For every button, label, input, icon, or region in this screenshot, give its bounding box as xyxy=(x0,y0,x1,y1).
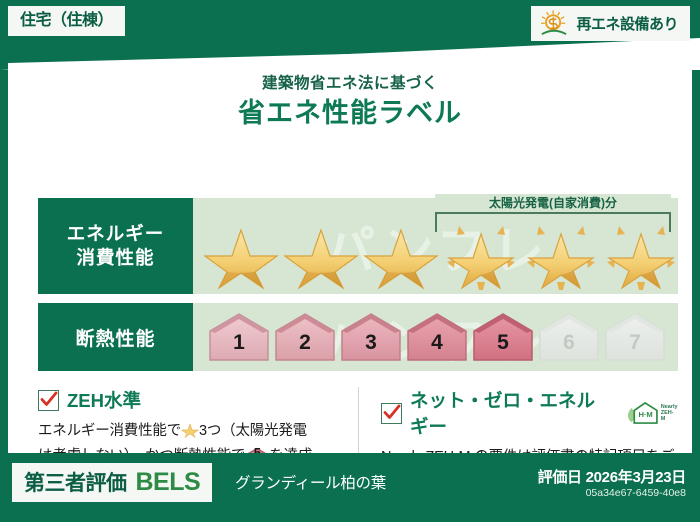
bels-logo-text: BELS xyxy=(136,468,201,497)
sun-energy-icon xyxy=(539,10,569,36)
footer-bar: 第三者評価 BELS グランディール柏の葉 評価日 2026年3月23日 05a… xyxy=(0,453,700,522)
star-icon xyxy=(363,218,439,290)
insulation-level-badge-inactive: 6 xyxy=(537,311,601,363)
net-zero-title: ネット・ゼロ・エネルギー xyxy=(410,387,613,439)
energy-performance-label: 住宅（住棟） 再エネ設備あり 建築物省 xyxy=(0,0,700,522)
property-name: グランディール柏の葉 xyxy=(235,471,386,493)
insulation-level-scale: 1 2 3 xyxy=(207,311,667,363)
insulation-label: 断熱性能 xyxy=(75,324,155,351)
building-type-label: 住宅（住棟） xyxy=(20,12,113,29)
evaluation-date: 評価日 2026年3月23日 xyxy=(538,466,686,487)
star-icon-solar xyxy=(443,218,519,290)
insulation-level-badge-achieved: 5 xyxy=(471,311,535,363)
solar-caption: 太陽光発電(自家消費)分 xyxy=(435,194,671,211)
energy-label-line1: エネルギー xyxy=(67,222,165,246)
insulation-level-number: 2 xyxy=(273,331,337,355)
energy-performance-body: パンフレ 太陽光発電(自家消費)分 xyxy=(193,198,678,294)
energy-performance-row: エネルギー 消費性能 パンフレ 太陽光発電(自家消費)分 xyxy=(38,198,678,294)
insulation-level-number: 1 xyxy=(207,331,271,355)
insulation-level-number: 6 xyxy=(537,331,601,355)
renewable-equipment-badge: 再エネ設備あり xyxy=(531,6,690,41)
net-zero-heading: ネット・ゼロ・エネルギー H·M Nearly ZEH-M xyxy=(381,387,678,439)
insulation-performance-body: パンフレ xyxy=(193,303,678,371)
energy-performance-label-box: エネルギー 消費性能 xyxy=(38,198,193,294)
insulation-level-badge: 4 xyxy=(405,311,469,363)
zeh-desc-part1: エネルギー消費性能で xyxy=(38,423,181,439)
zeh-standard-heading: ZEH水準 xyxy=(38,387,358,413)
zeh-m-logo-sublabel: Nearly ZEH-M xyxy=(661,404,678,422)
star-rating xyxy=(203,218,679,290)
insulation-level-badge: 3 xyxy=(339,311,403,363)
insulation-level-badge: 2 xyxy=(273,311,337,363)
zeh-desc-part2: 3つ（太陽光発電 xyxy=(199,423,307,439)
energy-label-line2: 消費性能 xyxy=(76,246,154,270)
bels-certification-box: 第三者評価 BELS xyxy=(12,463,212,502)
star-icon-solar xyxy=(603,218,679,290)
evaluation-id: 05a34e67-6459-40e8 xyxy=(586,487,686,499)
label-subtitle: 建築物省エネ法に基づく xyxy=(8,71,692,93)
insulation-performance-row: 断熱性能 パンフレ xyxy=(38,303,678,371)
label-title: 省エネ性能ラベル xyxy=(8,91,692,130)
insulation-level-number: 4 xyxy=(405,331,469,355)
star-icon xyxy=(283,218,359,290)
insulation-performance-label-box: 断熱性能 xyxy=(38,303,193,371)
building-type-tag: 住宅（住棟） xyxy=(8,6,125,36)
insulation-level-number: 7 xyxy=(603,331,667,355)
star-icon xyxy=(181,421,199,445)
star-icon-solar xyxy=(523,218,599,290)
renewable-equipment-label: 再エネ設備あり xyxy=(576,13,678,34)
third-party-evaluation-label: 第三者評価 xyxy=(24,467,127,497)
insulation-level-number: 3 xyxy=(339,331,403,355)
label-card: 建築物省エネ法に基づく 省エネ性能ラベル エネルギー 消費性能 パンフレ 太陽光… xyxy=(8,45,692,453)
zeh-m-logo-icon: H·M Nearly ZEH-M xyxy=(625,400,678,426)
zeh-m-sub-line2: ZEH-M xyxy=(661,410,674,422)
star-icon xyxy=(203,218,279,290)
insulation-level-number: 5 xyxy=(471,331,535,355)
checkbox-checked-icon xyxy=(381,403,402,424)
insulation-level-badge: 1 xyxy=(207,311,271,363)
insulation-level-badge-inactive: 7 xyxy=(603,311,667,363)
zeh-standard-title: ZEH水準 xyxy=(67,387,141,413)
checkbox-checked-icon xyxy=(38,390,59,411)
svg-text:H·M: H·M xyxy=(639,410,653,419)
